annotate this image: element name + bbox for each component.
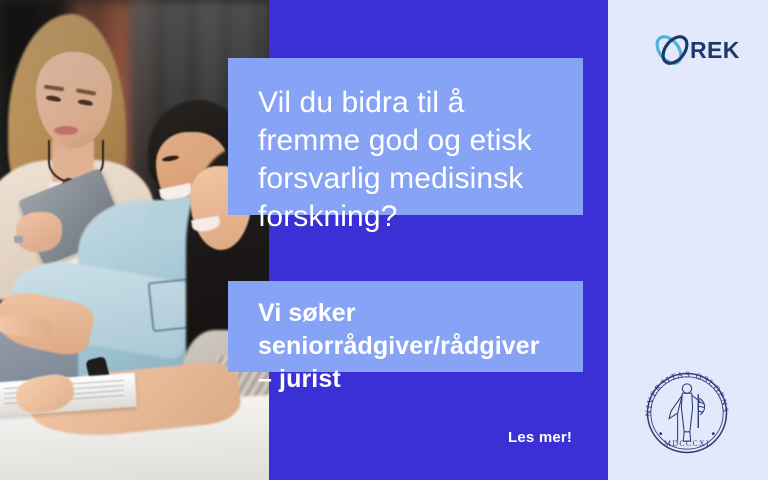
interlocking-ellipses-icon xyxy=(650,28,694,72)
apollo-with-lyre-icon xyxy=(669,384,705,441)
svg-text:UNIVERSITAS OSLOENSIS: UNIVERSITAS OSLOENSIS xyxy=(640,366,731,417)
uio-seal: UNIVERSITAS OSLOENSIS MDCCCXI xyxy=(640,366,734,460)
job-title-text: Vi søker seniorrådgiver/rådgiver – juris… xyxy=(258,297,553,396)
uio-seal-outer-text: UNIVERSITAS OSLOENSIS xyxy=(640,366,731,417)
rek-wordmark: REK xyxy=(690,37,740,64)
uio-seal-year: MDCCCXI xyxy=(664,439,710,448)
headline-text: Vil du bidra til å fremme god og etisk f… xyxy=(258,84,553,236)
job-title-box: Vi søker seniorrådgiver/rådgiver – juris… xyxy=(228,281,583,372)
recruitment-banner: Vil du bidra til å fremme god og etisk f… xyxy=(0,0,768,480)
photo-person-one-ring xyxy=(14,236,23,243)
headline-box: Vil du bidra til å fremme god og etisk f… xyxy=(228,58,583,215)
photo-person-one-hand xyxy=(16,212,62,252)
rek-logo[interactable]: REK xyxy=(650,28,738,72)
photo-person-one-lips xyxy=(54,126,78,135)
read-more-link[interactable]: Les mer! xyxy=(508,429,572,446)
